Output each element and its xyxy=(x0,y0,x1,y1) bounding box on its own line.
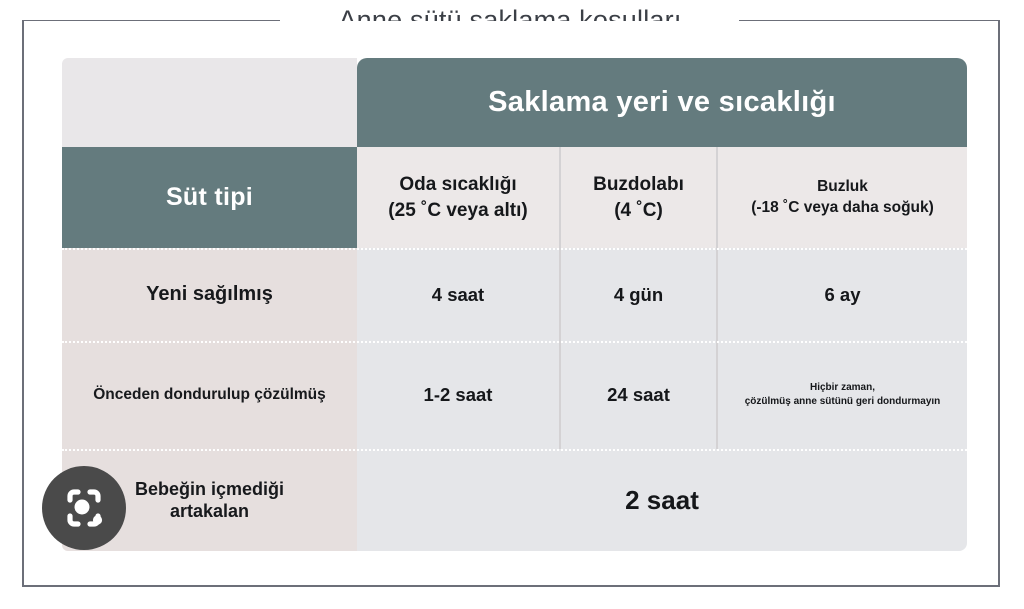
column-header-room-temperature: Oda sıcaklığı (25 ˚C veya altı) xyxy=(357,147,561,248)
cell-freshly-room: 4 saat xyxy=(357,248,561,341)
table-corner-blank xyxy=(62,58,357,147)
cell-thawed-room: 1-2 saat xyxy=(357,341,561,449)
column-header-milk-type: Süt tipi xyxy=(62,147,357,248)
column-header-refrigerator: Buzdolabı (4 ˚C) xyxy=(561,147,718,248)
column-header-room-temperature-line2: (25 ˚C veya altı) xyxy=(388,198,527,223)
google-lens-icon xyxy=(42,466,126,550)
column-header-freezer: Buzluk (-18 ˚C veya daha soğuk) xyxy=(718,147,967,248)
row-label-leftover-milk-line1: Bebeğin içmediği xyxy=(135,478,284,501)
cell-thawed-freezer-note-line2: çözülmüş anne sütünü geri dondurmayın xyxy=(745,395,941,410)
cell-freshly-fridge: 4 gün xyxy=(561,248,718,341)
google-lens-button[interactable] xyxy=(42,466,126,550)
column-header-refrigerator-line1: Buzdolabı xyxy=(593,172,684,197)
cell-thawed-fridge: 24 saat xyxy=(561,341,718,449)
cell-thawed-freezer-note-line1: Hiçbir zaman, xyxy=(745,381,941,396)
storage-conditions-table: Saklama yeri ve sıcaklığı Süt tipi Oda s… xyxy=(62,58,967,551)
cell-thawed-freezer-note: Hiçbir zaman, çözülmüş anne sütünü geri … xyxy=(718,341,967,449)
table-banner-header: Saklama yeri ve sıcaklığı xyxy=(357,58,967,147)
column-header-freezer-line2: (-18 ˚C veya daha soğuk) xyxy=(751,198,934,218)
column-header-room-temperature-line1: Oda sıcaklığı xyxy=(388,172,527,197)
column-header-refrigerator-line2: (4 ˚C) xyxy=(593,198,684,223)
row-label-previously-frozen-thawed: Önceden dondurulup çözülmüş xyxy=(62,341,357,449)
cell-freshly-freezer: 6 ay xyxy=(718,248,967,341)
table-grid: Saklama yeri ve sıcaklığı Süt tipi Oda s… xyxy=(62,58,967,551)
column-header-freezer-line1: Buzluk xyxy=(751,177,934,197)
cell-leftover-merged-value: 2 saat xyxy=(357,449,967,551)
row-label-freshly-expressed: Yeni sağılmış xyxy=(62,248,357,341)
row-label-leftover-milk-line2: artakalan xyxy=(135,500,284,523)
